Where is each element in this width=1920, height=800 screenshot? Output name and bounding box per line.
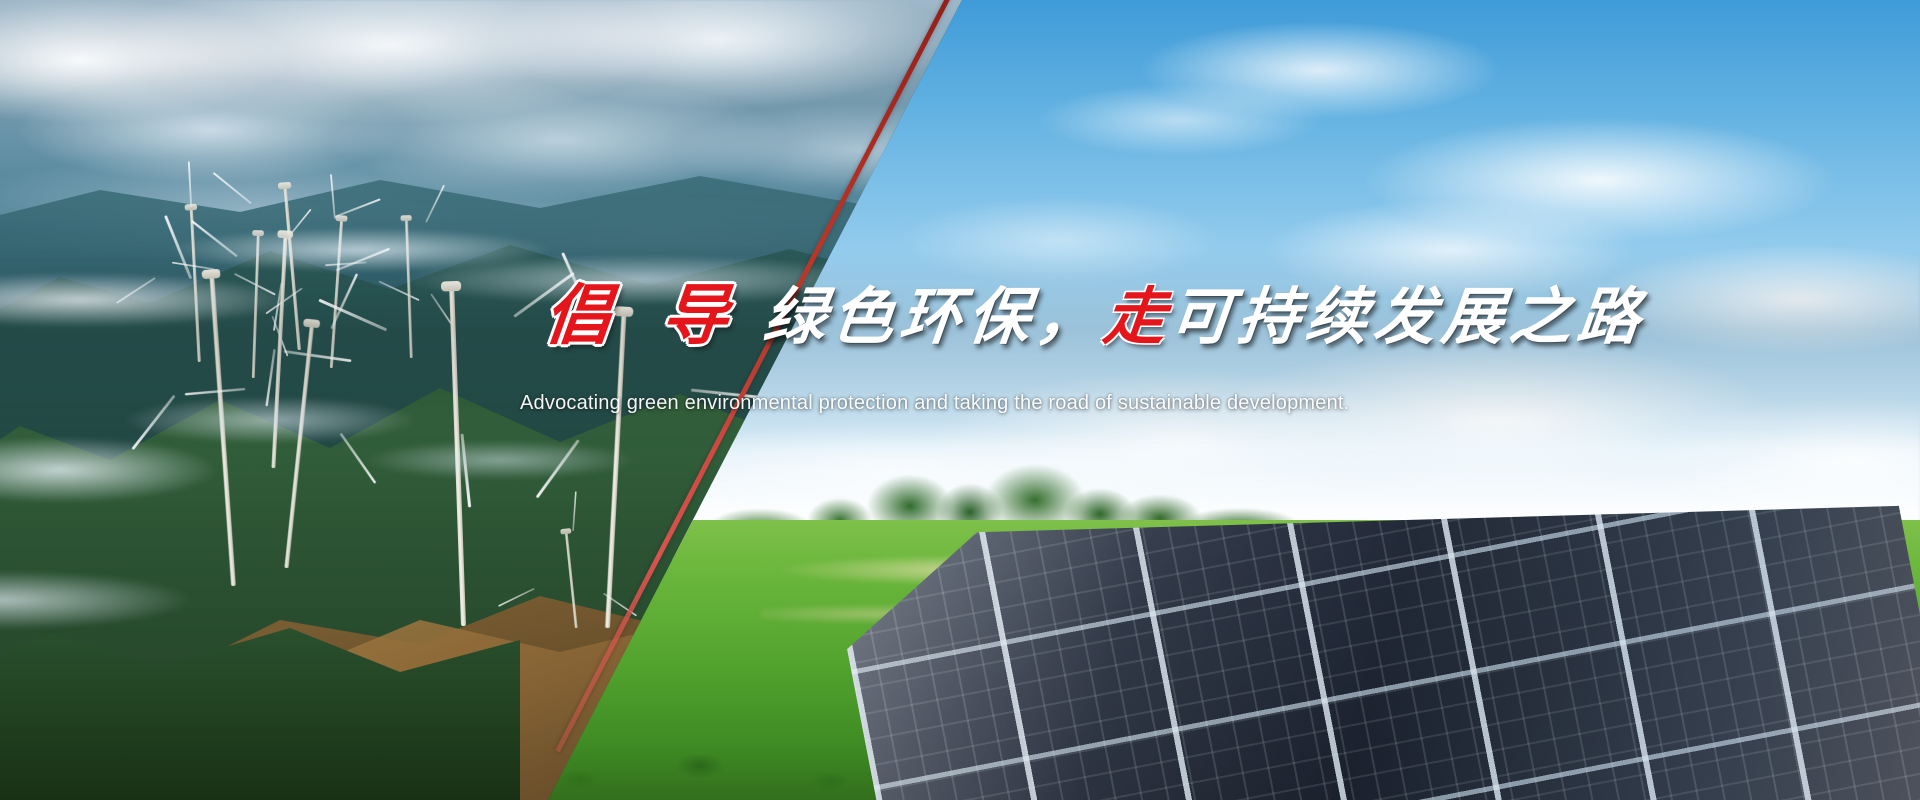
turbine-nacelle	[202, 269, 221, 279]
turbine-nacelle	[277, 230, 293, 239]
turbine-nacelle	[560, 528, 571, 534]
turbine-nacelle	[278, 182, 292, 190]
left-sunrise-tint	[0, 0, 1000, 170]
turbine-nacelle	[335, 215, 347, 222]
turbine-nacelle	[614, 306, 634, 317]
turbine-nacelle	[303, 318, 320, 328]
hero-banner: 倡 导绿色环保，走可持续发展之路 Advocating green enviro…	[0, 0, 1920, 800]
turbine-nacelle	[400, 215, 411, 221]
turbine-nacelle	[252, 230, 264, 236]
turbine-nacelle	[441, 281, 461, 292]
